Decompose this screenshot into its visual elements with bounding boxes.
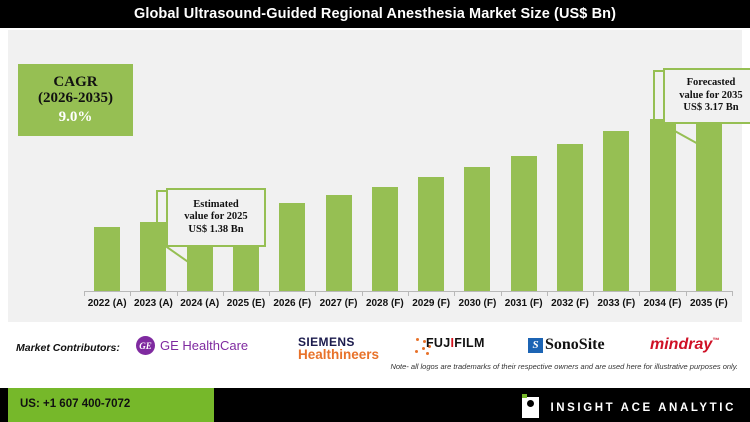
logo-mindray: mindray™ bbox=[650, 336, 719, 354]
estimated-value-callout: Estimated value for 2025 US$ 1.38 Bn bbox=[166, 188, 266, 247]
siemens-wordmark: SIEMENS Healthineers bbox=[298, 336, 379, 362]
estimated-callout-line-2: value for 2025 bbox=[184, 211, 247, 223]
cagr-value: 9.0% bbox=[59, 108, 93, 126]
brand-lockup: INSIGHT ACE ANALYTIC bbox=[522, 397, 736, 418]
x-axis-label-2033F: 2033 (F) bbox=[593, 298, 639, 309]
bar-2028F bbox=[372, 187, 398, 291]
x-axis-tick bbox=[315, 291, 316, 296]
bar-2027F bbox=[326, 195, 352, 291]
forecast-value-callout: Forecasted value for 2035 US$ 3.17 Bn bbox=[663, 68, 750, 124]
x-axis-tick bbox=[454, 291, 455, 296]
cagr-line-2: (2026-2035) bbox=[38, 90, 113, 107]
bar-2035F bbox=[696, 105, 722, 291]
market-contributors-row: Market Contributors: GE GE HealthCare SI… bbox=[8, 324, 742, 380]
x-axis-tick bbox=[84, 291, 85, 296]
x-axis-tick bbox=[223, 291, 224, 296]
sonosite-wordmark: SonoSite bbox=[545, 336, 605, 354]
x-axis-tick bbox=[269, 291, 270, 296]
fujifilm-part-c: FILM bbox=[454, 336, 484, 350]
x-axis-label-2029F: 2029 (F) bbox=[408, 298, 454, 309]
forecast-callout-line-1: Forecasted bbox=[687, 77, 736, 89]
x-axis-tick bbox=[732, 291, 733, 296]
forecast-callout-line-2: value for 2035 bbox=[679, 90, 742, 102]
x-axis-label-2026F: 2026 (F) bbox=[269, 298, 315, 309]
x-axis-label-2022A: 2022 (A) bbox=[84, 298, 130, 309]
x-axis-label-2027F: 2027 (F) bbox=[315, 298, 361, 309]
logo-fujifilm: FUJIFILM bbox=[426, 336, 485, 350]
insight-ace-logo-icon bbox=[522, 397, 539, 418]
x-axis-label-2023A: 2023 (A) bbox=[130, 298, 176, 309]
trademark-note: Note- all logos are trademarks of their … bbox=[390, 362, 738, 371]
x-axis-label-2025E: 2025 (E) bbox=[223, 298, 269, 309]
x-axis-tick bbox=[362, 291, 363, 296]
cagr-line-1: CAGR bbox=[53, 75, 97, 91]
x-axis-tick bbox=[177, 291, 178, 296]
x-axis-label-2031F: 2031 (F) bbox=[501, 298, 547, 309]
bar-2032F bbox=[557, 144, 583, 291]
cagr-badge: CAGR (2026-2035) 9.0% bbox=[18, 64, 133, 136]
x-axis-tick bbox=[639, 291, 640, 296]
fujifilm-wordmark: FUJIFILM bbox=[426, 336, 485, 350]
bar-2029F bbox=[418, 177, 444, 291]
x-axis-tick bbox=[686, 291, 687, 296]
chart-panel: 2022 (A)2023 (A)2024 (A)2025 (E)2026 (F)… bbox=[8, 30, 742, 322]
logo-siemens-healthineers: SIEMENS Healthineers bbox=[298, 336, 379, 362]
bar-2022A bbox=[94, 227, 120, 291]
x-axis-label-2024A: 2024 (A) bbox=[177, 298, 223, 309]
x-axis-tick bbox=[547, 291, 548, 296]
mindray-wordmark: mindray™ bbox=[650, 336, 719, 354]
forecast-callout-line-3: US$ 3.17 Bn bbox=[683, 102, 738, 114]
page-title: Global Ultrasound-Guided Regional Anesth… bbox=[134, 6, 616, 22]
bar-2026F bbox=[279, 203, 305, 291]
bar-2030F bbox=[464, 167, 490, 291]
contributors-label: Market Contributors: bbox=[16, 342, 120, 354]
bar-2033F bbox=[603, 131, 629, 291]
siemens-line-2: Healthineers bbox=[298, 348, 379, 362]
x-axis-label-2032F: 2032 (F) bbox=[547, 298, 593, 309]
x-axis-label-2030F: 2030 (F) bbox=[454, 298, 500, 309]
x-axis-label-2035F: 2035 (F) bbox=[686, 298, 732, 309]
footer-phone-number[interactable]: US: +1 607 400-7072 bbox=[20, 398, 130, 410]
bar-2034F bbox=[650, 119, 676, 291]
estimated-callout-line-1: Estimated bbox=[193, 199, 239, 211]
x-axis-tick bbox=[408, 291, 409, 296]
sonosite-s-icon: S bbox=[528, 338, 543, 353]
x-axis-label-2028F: 2028 (F) bbox=[362, 298, 408, 309]
x-axis-tick bbox=[501, 291, 502, 296]
ge-healthcare-text: GE HealthCare bbox=[160, 338, 248, 353]
footer-bar: US: +1 607 400-7072 INSIGHT ACE ANALYTIC bbox=[0, 388, 750, 422]
x-axis-label-2034F: 2034 (F) bbox=[639, 298, 685, 309]
logo-sonosite: S SonoSite bbox=[528, 336, 605, 354]
estimated-callout-line-3: US$ 1.38 Bn bbox=[188, 224, 243, 236]
header-bar: Global Ultrasound-Guided Regional Anesth… bbox=[0, 0, 750, 28]
infographic-page: Global Ultrasound-Guided Regional Anesth… bbox=[0, 0, 750, 422]
brand-name: INSIGHT ACE ANALYTIC bbox=[550, 402, 736, 414]
bar-2031F bbox=[511, 156, 537, 291]
fujifilm-part-a: FUJ bbox=[426, 336, 451, 350]
x-axis-tick bbox=[130, 291, 131, 296]
mindray-text: mindray bbox=[650, 336, 712, 353]
x-axis-labels: 2022 (A)2023 (A)2024 (A)2025 (E)2026 (F)… bbox=[8, 298, 742, 318]
ge-monogram-icon: GE bbox=[136, 336, 155, 355]
logo-ge-healthcare: GE GE HealthCare bbox=[136, 336, 248, 355]
x-axis-tick bbox=[593, 291, 594, 296]
